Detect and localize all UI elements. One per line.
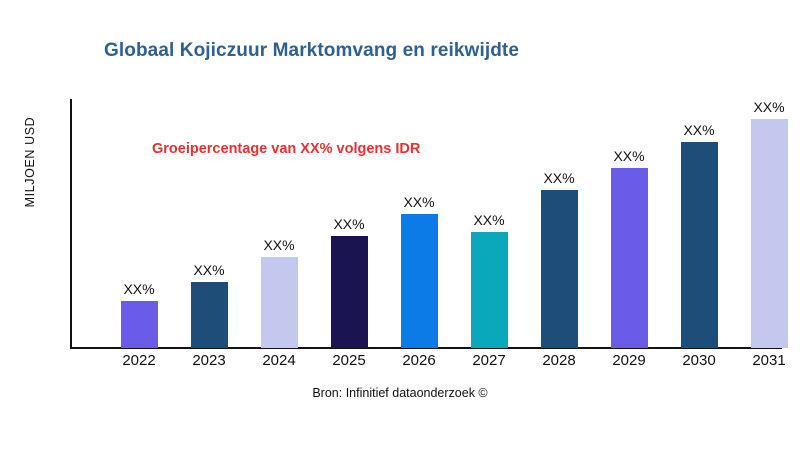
x-tick-2023: 2023 <box>174 352 244 369</box>
source-note: Bron: Infinitief dataonderzoek © <box>0 386 800 400</box>
bar-2024[interactable] <box>261 257 298 348</box>
bar-value-label-2028: XX% <box>524 170 594 186</box>
bar-2027[interactable] <box>471 232 508 348</box>
bar-value-label-2023: XX% <box>174 262 244 278</box>
bar-value-label-2027: XX% <box>454 212 524 228</box>
bar-value-label-2025: XX% <box>314 216 384 232</box>
x-tick-2031: 2031 <box>734 352 800 369</box>
bar-2022[interactable] <box>121 301 158 348</box>
chart-title: Globaal Kojiczuur Marktomvang en reikwij… <box>104 40 519 62</box>
x-axis-tick-labels: 2022202320242025202620272028202920302031 <box>70 352 782 376</box>
bar-series: XX%XX%XX%XX%XX%XX%XX%XX%XX%XX% <box>70 99 782 348</box>
bar-value-label-2031: XX% <box>734 99 800 115</box>
x-tick-2028: 2028 <box>524 352 594 369</box>
chart-container: Globaal Kojiczuur Marktomvang en reikwij… <box>0 0 800 450</box>
bar-2023[interactable] <box>191 282 228 348</box>
bar-2029[interactable] <box>611 168 648 348</box>
x-tick-2025: 2025 <box>314 352 384 369</box>
x-tick-2022: 2022 <box>104 352 174 369</box>
bar-value-label-2030: XX% <box>664 122 734 138</box>
bar-2031[interactable] <box>751 119 788 348</box>
x-tick-2026: 2026 <box>384 352 454 369</box>
bar-value-label-2026: XX% <box>384 194 454 210</box>
plot-area: Groeipercentage van XX% volgens IDR XX%X… <box>70 99 782 349</box>
bar-2028[interactable] <box>541 190 578 348</box>
x-tick-2029: 2029 <box>594 352 664 369</box>
bar-value-label-2029: XX% <box>594 148 664 164</box>
x-tick-2027: 2027 <box>454 352 524 369</box>
bar-2030[interactable] <box>681 142 718 348</box>
bar-2025[interactable] <box>331 236 368 348</box>
bar-value-label-2022: XX% <box>104 281 174 297</box>
x-tick-2024: 2024 <box>244 352 314 369</box>
x-tick-2030: 2030 <box>664 352 734 369</box>
bar-2026[interactable] <box>401 214 438 348</box>
bar-value-label-2024: XX% <box>244 237 314 253</box>
y-axis-label: MILJOEN USD <box>23 92 37 232</box>
